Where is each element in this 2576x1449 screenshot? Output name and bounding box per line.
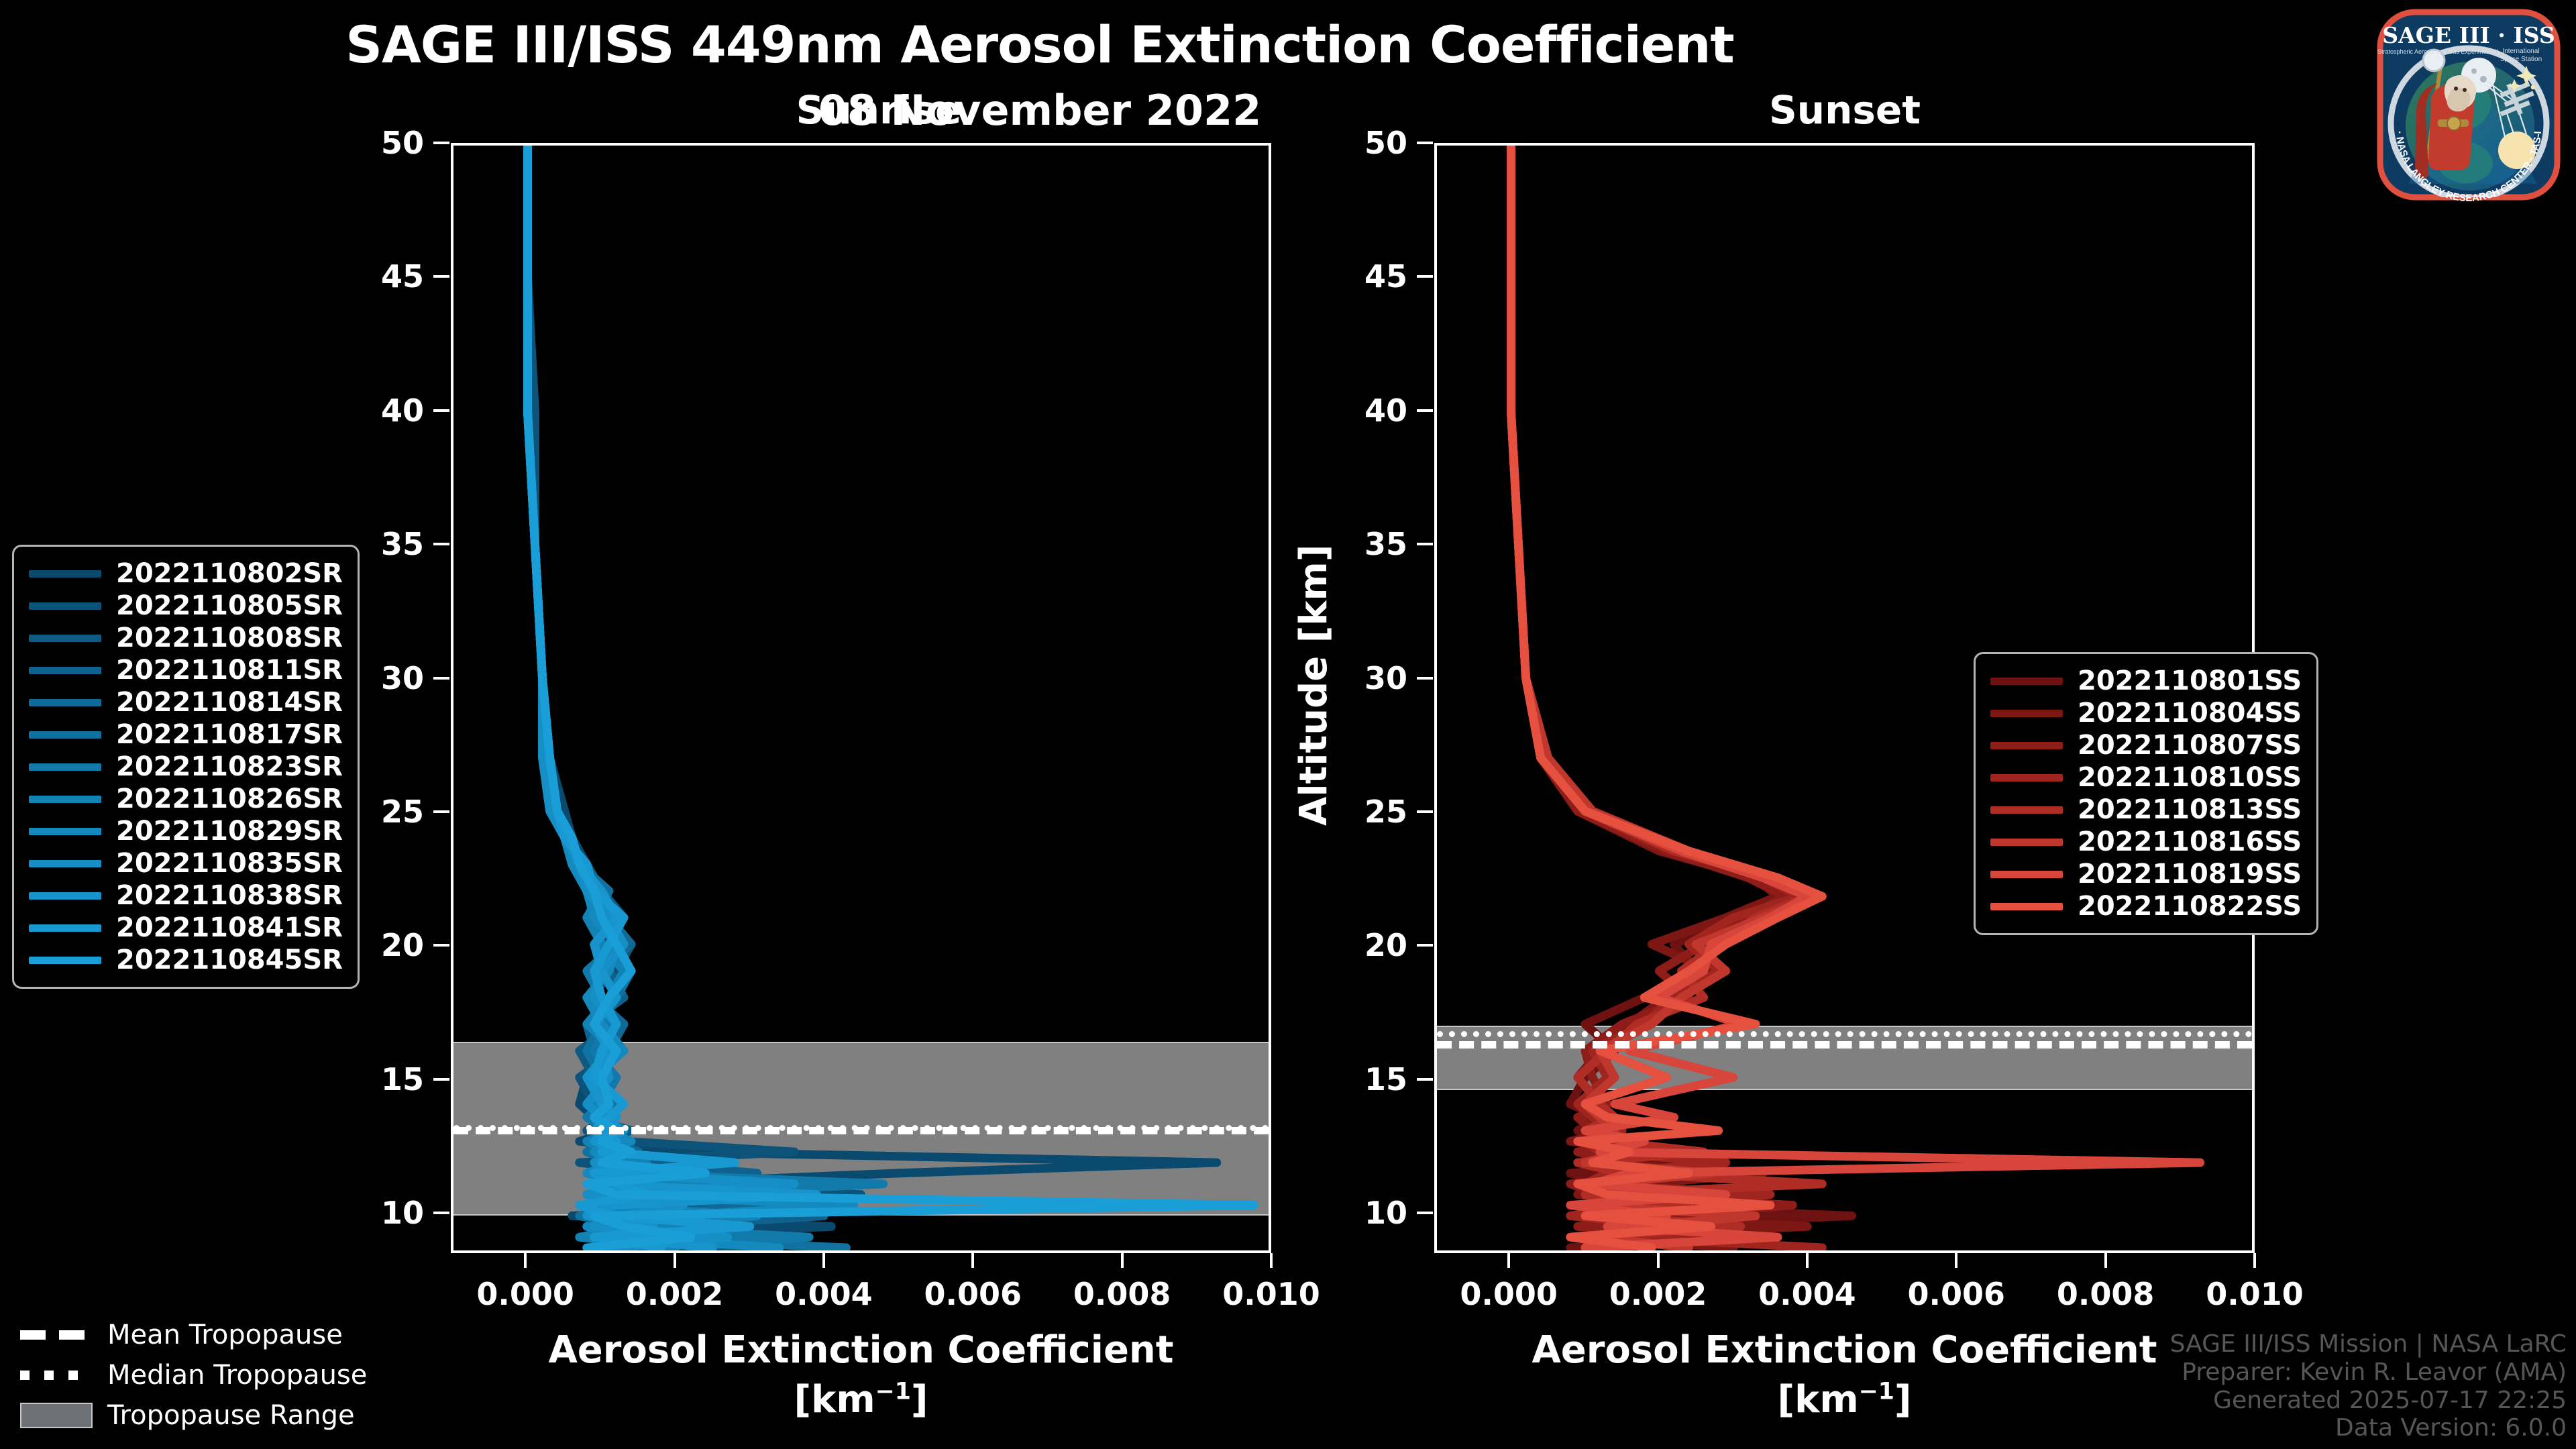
legend-sunrise[interactable]: 2022110802SR2022110805SR2022110808SR2022…	[12, 545, 360, 989]
series-line	[527, 146, 1253, 1248]
x-axis-tick	[524, 1253, 527, 1268]
legend-label: 2022110807SS	[2078, 730, 2302, 761]
series-line	[1511, 146, 1822, 1248]
legend-label: 2022110802SR	[116, 558, 343, 589]
legend-sunset[interactable]: 2022110801SS2022110804SS2022110807SS2022…	[1974, 652, 2318, 935]
legend-label: 2022110823SR	[116, 751, 343, 782]
y-axis-tick-label: 20	[1307, 927, 1407, 963]
panel-label-sunset: Sunset	[1717, 87, 1972, 133]
legend-label: 2022110811SR	[116, 655, 343, 686]
y-axis-tick	[433, 1078, 449, 1081]
series-line	[527, 146, 824, 1248]
y-axis-tick-label: 50	[1307, 125, 1407, 161]
legend-sunrise-item[interactable]: 2022110845SR	[29, 944, 343, 976]
y-axis-tick-label: 15	[1307, 1061, 1407, 1097]
y-axis-tick	[1417, 275, 1433, 278]
filled-band-icon	[20, 1403, 93, 1428]
line-swatch-icon	[1990, 678, 2063, 685]
x-axis-tick	[1121, 1253, 1124, 1268]
page-title: SAGE III/ISS 449nm Aerosol Extinction Co…	[0, 15, 2080, 74]
y-axis-tick	[433, 810, 449, 813]
legend-sunrise-item[interactable]: 2022110826SR	[29, 783, 343, 815]
legend-label: Mean Tropopause	[107, 1320, 343, 1350]
series-line	[1511, 146, 1822, 1248]
x-axis-tick	[2253, 1253, 2256, 1268]
legend-sunset-item[interactable]: 2022110810SS	[1990, 761, 2302, 794]
series-line	[527, 146, 780, 1248]
y-axis-tick	[433, 944, 449, 947]
legend-label: Median Tropopause	[107, 1360, 367, 1391]
y-axis-tick	[433, 409, 449, 412]
median-tropopause-line	[453, 1125, 1269, 1131]
legend-item-median-tropopause: Median Tropopause	[20, 1355, 367, 1395]
legend-label: 2022110845SR	[116, 945, 343, 975]
legend-sunset-item[interactable]: 2022110816SS	[1990, 826, 2302, 858]
x-axis-tick	[1806, 1253, 1809, 1268]
y-axis-tick	[1417, 944, 1433, 947]
svg-text:International: International	[2502, 48, 2539, 55]
legend-label: 2022110817SR	[116, 719, 343, 750]
logo-subtitle-left: Stratospheric Aerosol and Gas Experiment…	[2377, 48, 2498, 55]
y-axis-tick-label: 15	[323, 1061, 424, 1097]
legend-label: 2022110819SS	[2078, 859, 2302, 890]
legend-label: 2022110816SS	[2078, 826, 2302, 857]
y-axis-tick	[433, 1212, 449, 1214]
y-axis-tick-label: 40	[323, 392, 424, 429]
line-swatch-icon	[29, 828, 101, 835]
line-swatch-icon	[1990, 710, 2063, 717]
x-axis-units: [km−1]	[451, 1378, 1271, 1421]
x-axis-tick	[1657, 1253, 1660, 1268]
x-axis-tick	[1507, 1253, 1510, 1268]
x-axis-title: Aerosol Extinction Coefficient	[451, 1328, 1271, 1372]
legend-label: 2022110814SR	[116, 687, 343, 718]
y-axis-tick-label: 45	[323, 258, 424, 294]
line-swatch-icon	[29, 635, 101, 642]
line-swatch-icon	[1990, 742, 2063, 749]
legend-label: 2022110826SR	[116, 784, 343, 814]
y-axis-tick	[1417, 810, 1433, 813]
legend-label: 2022110808SR	[116, 623, 343, 653]
series-line	[527, 146, 794, 1248]
y-axis-tick-label: 45	[1307, 258, 1407, 294]
x-axis-tick	[1955, 1253, 1957, 1268]
legend-sunrise-item[interactable]: 2022110838SR	[29, 879, 343, 912]
legend-sunrise-item[interactable]: 2022110811SR	[29, 654, 343, 686]
legend-sunset-item[interactable]: 2022110804SS	[1990, 697, 2302, 729]
y-axis-tick	[1417, 142, 1433, 144]
series-line	[527, 146, 816, 1248]
legend-label: 2022110801SS	[2078, 665, 2302, 696]
legend-item-mean-tropopause: Mean Tropopause	[20, 1315, 367, 1355]
line-swatch-icon	[29, 602, 101, 610]
x-axis-tick	[2104, 1253, 2107, 1268]
series-line	[527, 146, 757, 1248]
legend-sunrise-item[interactable]: 2022110808SR	[29, 622, 343, 654]
x-axis-tick	[1270, 1253, 1273, 1268]
median-tropopause-line	[1437, 1031, 2252, 1037]
line-swatch-icon	[29, 796, 101, 803]
credit-line: Data Version: 6.0.0	[2170, 1414, 2567, 1442]
legend-label: 2022110813SS	[2078, 794, 2302, 825]
legend-sunset-item[interactable]: 2022110807SS	[1990, 729, 2302, 761]
series-line	[1511, 146, 1822, 1248]
y-axis-tick	[1417, 543, 1433, 545]
line-swatch-icon	[29, 731, 101, 739]
line-swatch-icon	[1990, 839, 2063, 846]
y-axis-tick-label: 10	[1307, 1195, 1407, 1231]
series-line	[527, 146, 772, 1248]
legend-item-tropopause-range: Tropopause Range	[20, 1395, 367, 1436]
plot-panel-sunrise[interactable]	[451, 143, 1271, 1253]
line-swatch-icon	[1990, 871, 2063, 878]
x-axis-title: Aerosol Extinction Coefficient	[1434, 1328, 2255, 1372]
x-axis-tick-label: 0.010	[2161, 1276, 2349, 1312]
series-line	[527, 146, 1216, 1248]
legend-tropopause: Mean Tropopause Median Tropopause Tropop…	[20, 1315, 367, 1436]
series-line	[527, 146, 853, 1248]
y-axis-tick	[433, 142, 449, 144]
line-swatch-icon	[1990, 903, 2063, 910]
legend-sunrise-item[interactable]: 2022110841SR	[29, 912, 343, 944]
credit-line: Generated 2025-07-17 22:25	[2170, 1387, 2567, 1415]
x-axis-tick	[674, 1253, 676, 1268]
y-axis-tick	[1417, 409, 1433, 412]
x-axis-tick-label: 0.010	[1177, 1276, 1365, 1312]
line-swatch-icon	[29, 924, 101, 932]
line-swatch-icon	[29, 570, 101, 578]
line-swatch-icon	[1990, 806, 2063, 814]
series-line	[1511, 146, 1851, 1248]
line-swatch-icon	[29, 763, 101, 771]
y-axis-tick	[433, 275, 449, 278]
legend-label: 2022110835SR	[116, 848, 343, 879]
legend-label: 2022110829SR	[116, 816, 343, 847]
dotted-line-icon	[20, 1371, 93, 1380]
y-axis-tick	[433, 677, 449, 680]
legend-label: 2022110805SR	[116, 590, 343, 621]
logo-title: SAGE III · ISS	[2382, 22, 2555, 48]
legend-sunrise-item[interactable]: 2022110802SR	[29, 557, 343, 590]
line-swatch-icon	[29, 860, 101, 867]
credit-line: Preparer: Kevin R. Leavor (AMA)	[2170, 1358, 2567, 1387]
x-axis-tick	[971, 1253, 974, 1268]
line-swatch-icon	[29, 699, 101, 706]
legend-label: 2022110822SS	[2078, 891, 2302, 922]
svg-text:Space Station: Space Station	[2500, 56, 2542, 63]
y-axis-tick	[1417, 1212, 1433, 1214]
y-axis-tick-label: 50	[323, 125, 424, 161]
y-axis-tick	[433, 543, 449, 545]
series-line	[527, 146, 861, 1248]
series-line	[527, 146, 846, 1248]
line-swatch-icon	[29, 892, 101, 900]
legend-sunset-item[interactable]: 2022110813SS	[1990, 794, 2302, 826]
dashed-line-icon	[20, 1330, 93, 1340]
line-swatch-icon	[1990, 774, 2063, 782]
y-axis-tick-label: 40	[1307, 392, 1407, 429]
y-axis-tick	[1417, 1078, 1433, 1081]
legend-label: 2022110838SR	[116, 880, 343, 911]
x-axis-units: [km−1]	[1434, 1378, 2255, 1421]
legend-sunrise-item[interactable]: 2022110817SR	[29, 718, 343, 751]
mean-tropopause-line	[1437, 1041, 2252, 1049]
legend-label: Tropopause Range	[107, 1400, 355, 1431]
x-axis-tick	[822, 1253, 825, 1268]
series-line	[527, 146, 749, 1248]
legend-sunrise-item[interactable]: 2022110829SR	[29, 815, 343, 847]
legend-sunrise-item[interactable]: 2022110823SR	[29, 751, 343, 783]
credits-block: SAGE III/ISS Mission | NASA LaRC Prepare…	[2170, 1330, 2567, 1442]
legend-sunrise-item[interactable]: 2022110835SR	[29, 847, 343, 879]
legend-label: 2022110810SS	[2078, 762, 2302, 793]
y-axis-tick-label: 10	[323, 1195, 424, 1231]
line-swatch-icon	[29, 667, 101, 674]
line-swatch-icon	[29, 957, 101, 964]
legend-sunset-item[interactable]: 2022110801SS	[1990, 665, 2302, 697]
legend-sunset-item[interactable]: 2022110819SS	[1990, 858, 2302, 890]
y-axis-title: Altitude [km]	[1292, 544, 1336, 825]
legend-sunset-item[interactable]: 2022110822SS	[1990, 890, 2302, 922]
y-axis-tick	[1417, 677, 1433, 680]
legend-sunrise-item[interactable]: 2022110805SR	[29, 590, 343, 622]
panel-label-sunrise: Sunrise	[751, 87, 1006, 133]
legend-sunrise-item[interactable]: 2022110814SR	[29, 686, 343, 718]
legend-label: 2022110804SS	[2078, 698, 2302, 729]
sage-iii-iss-logo-icon: SAGE III · ISS Stratospheric Aerosol and…	[2368, 4, 2569, 205]
credit-line: SAGE III/ISS Mission | NASA LaRC	[2170, 1330, 2567, 1358]
profile-lines	[453, 146, 1269, 1250]
legend-label: 2022110841SR	[116, 912, 343, 943]
